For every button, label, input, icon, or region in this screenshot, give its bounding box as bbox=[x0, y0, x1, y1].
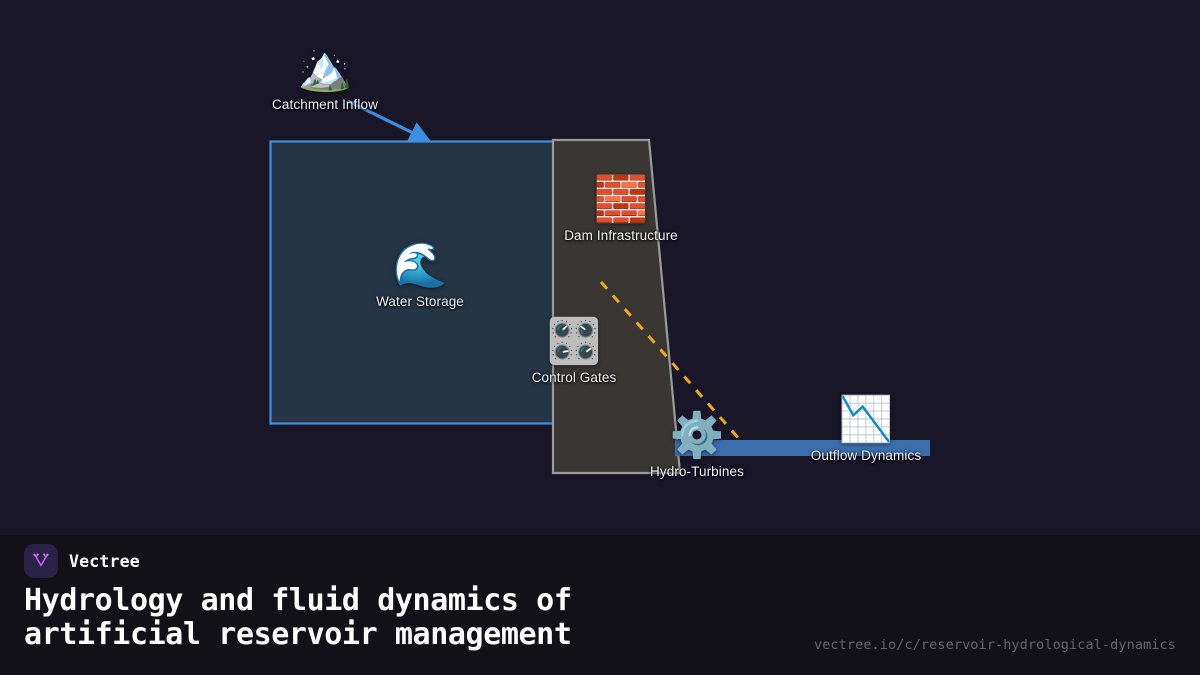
node-label-outflow-dynamics: Outflow Dynamics bbox=[811, 448, 921, 463]
chart-down-icon: 📉 bbox=[839, 396, 894, 444]
gear-icon: ⚙️ bbox=[670, 412, 725, 460]
node-catchment-inflow[interactable]: 🏔️ Catchment Inflow bbox=[272, 45, 378, 112]
page-root: 🏔️ Catchment Inflow 🌊 Water Storage 🧱 Da… bbox=[0, 0, 1200, 675]
node-label-control-gates: Control Gates bbox=[532, 370, 617, 385]
diagram-svg bbox=[0, 0, 1200, 535]
mountain-snow-icon: 🏔️ bbox=[298, 45, 353, 93]
footer-bar: Vectree Hydrology and fluid dynamics of … bbox=[0, 535, 1200, 675]
node-dam-infrastructure[interactable]: 🧱 Dam Infrastructure bbox=[564, 176, 678, 243]
diagram-canvas: 🏔️ Catchment Inflow 🌊 Water Storage 🧱 Da… bbox=[0, 0, 1200, 535]
brand-name: Vectree bbox=[69, 552, 140, 571]
node-label-catchment-inflow: Catchment Inflow bbox=[272, 97, 378, 112]
wave-icon: 🌊 bbox=[393, 242, 448, 290]
node-label-hydro-turbines: Hydro-Turbines bbox=[650, 464, 744, 479]
node-control-gates[interactable]: 🎛️ Control Gates bbox=[532, 318, 617, 385]
node-hydro-turbines[interactable]: ⚙️ Hydro-Turbines bbox=[650, 412, 744, 479]
vectree-logo-icon bbox=[24, 544, 58, 578]
node-outflow-dynamics[interactable]: 📉 Outflow Dynamics bbox=[811, 396, 921, 463]
footer-url: vectree.io/c/reservoir-hydrological-dyna… bbox=[814, 637, 1176, 653]
control-knobs-icon: 🎛️ bbox=[547, 318, 602, 366]
node-label-water-storage: Water Storage bbox=[376, 294, 464, 309]
brick-wall-icon: 🧱 bbox=[594, 176, 649, 224]
brand-block[interactable]: Vectree bbox=[24, 544, 140, 578]
node-water-storage[interactable]: 🌊 Water Storage bbox=[376, 242, 464, 309]
node-label-dam-infrastructure: Dam Infrastructure bbox=[564, 228, 678, 243]
page-title: Hydrology and fluid dynamics of artifici… bbox=[24, 584, 784, 651]
